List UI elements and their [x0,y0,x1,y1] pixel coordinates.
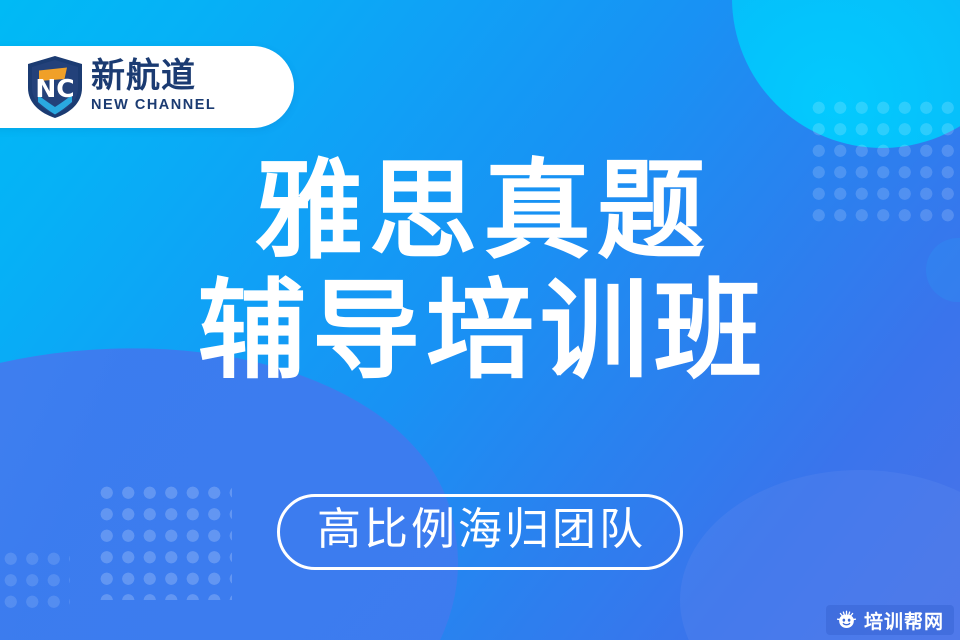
brand-name-cn: 新航道 [91,59,216,94]
brand-logo-text: 新航道 NEW CHANNEL [91,59,216,115]
promo-poster: NC 新航道 NEW CHANNEL 雅思真题 辅导培训班 高比例海归团队 [0,0,960,640]
watermark-text: 培训帮网 [864,607,944,634]
headline-line-2: 辅导培训班 [0,272,960,392]
watermark: 培训帮网 [826,605,954,635]
subtitle-pill: 高比例海归团队 [277,494,683,570]
brand-logo: NC 新航道 NEW CHANNEL [26,55,216,119]
brand-logo-pill: NC 新航道 NEW CHANNEL [0,46,294,128]
svg-text:NC: NC [35,74,74,103]
nc-shield-icon: NC [26,55,84,119]
brand-name-en: NEW CHANNEL [91,96,216,115]
headline-line-1: 雅思真题 [0,152,960,272]
subtitle-container: 高比例海归团队 [0,494,960,570]
decorative-circle-top-right [732,0,960,148]
sun-face-icon [836,610,857,631]
headline: 雅思真题 辅导培训班 [0,152,960,392]
